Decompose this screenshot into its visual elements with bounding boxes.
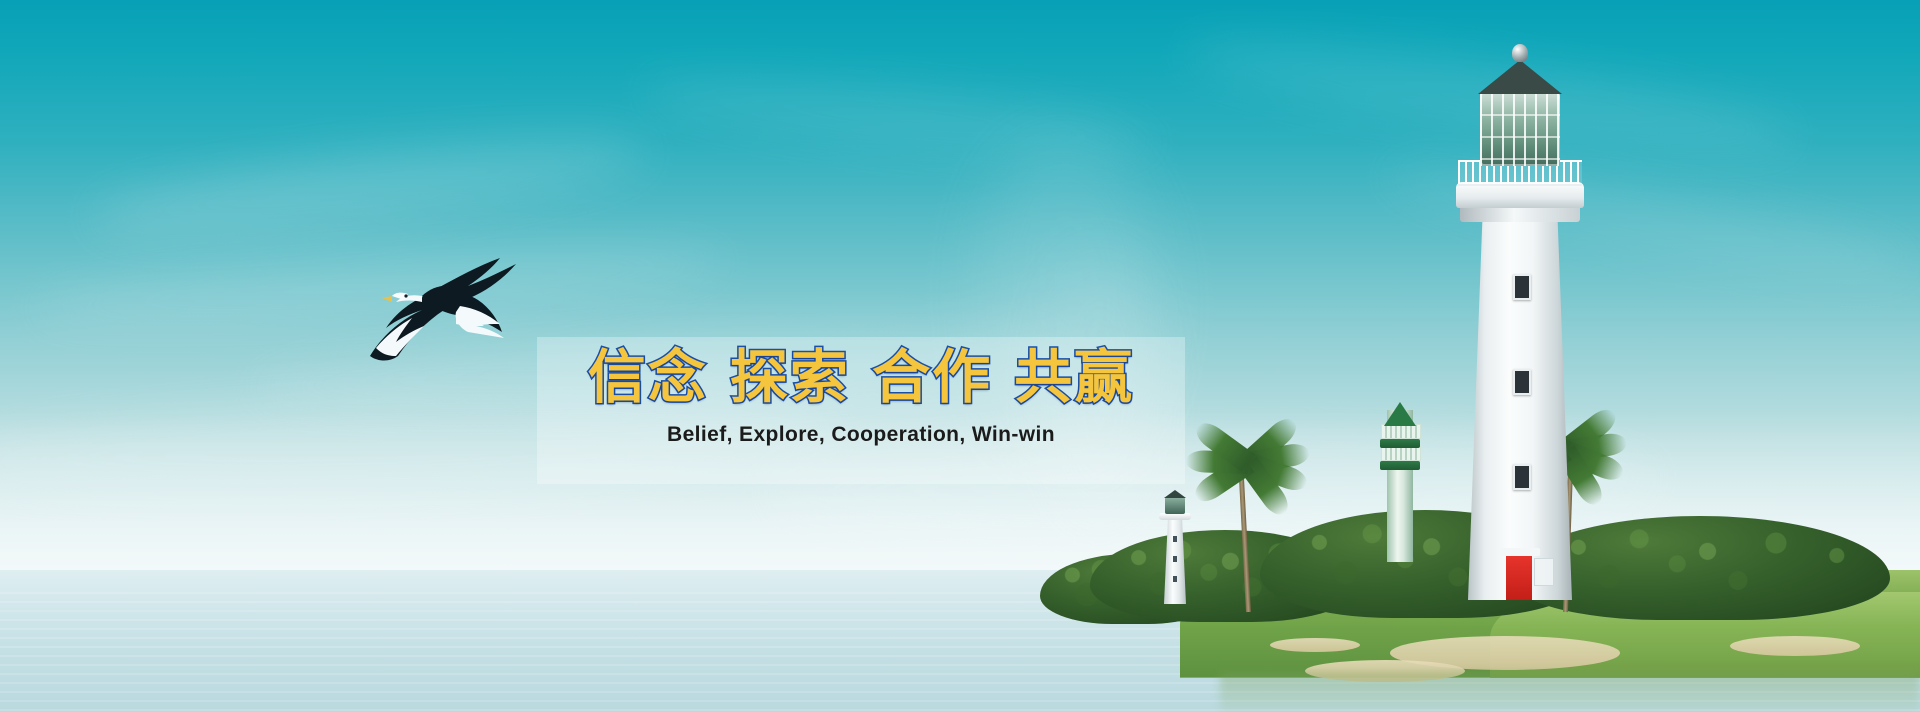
tower-band bbox=[1380, 439, 1420, 448]
tower-gallery bbox=[1381, 424, 1421, 439]
lighthouse-window bbox=[1513, 464, 1531, 490]
lighthouse-roof-cap bbox=[1478, 60, 1562, 94]
small-lighthouse-window bbox=[1173, 536, 1177, 542]
small-lighthouse-balcony bbox=[1159, 513, 1191, 520]
small-lighthouse bbox=[1152, 494, 1198, 604]
main-lighthouse bbox=[1440, 100, 1600, 600]
eagle-icon bbox=[352, 244, 524, 372]
lighthouse-finial bbox=[1512, 44, 1528, 62]
banner-hero: 信念 探索 合作 共赢 Belief, Explore, Cooperation… bbox=[0, 0, 1920, 712]
slogan-chinese: 信念 探索 合作 共赢 bbox=[588, 345, 1135, 410]
lighthouse-shaft bbox=[1468, 215, 1572, 600]
grass-reflection bbox=[1220, 672, 1920, 712]
lighthouse-window bbox=[1513, 274, 1531, 300]
tower-gallery bbox=[1381, 446, 1421, 461]
lighthouse-plaque bbox=[1534, 558, 1554, 586]
lighthouse-door bbox=[1506, 554, 1532, 600]
lighthouse-window bbox=[1513, 369, 1531, 395]
slogan-panel: 信念 探索 合作 共赢 Belief, Explore, Cooperation… bbox=[537, 337, 1185, 484]
tower-band bbox=[1380, 461, 1420, 470]
lighthouse-door-lintel bbox=[1500, 548, 1540, 556]
tower-roof bbox=[1384, 402, 1416, 426]
small-lighthouse-cap bbox=[1164, 490, 1186, 498]
small-lighthouse-window bbox=[1173, 556, 1177, 562]
small-lighthouse-lantern bbox=[1165, 497, 1185, 514]
sand-bunker bbox=[1270, 638, 1360, 652]
small-lighthouse-window bbox=[1173, 576, 1177, 582]
slogan-english: Belief, Explore, Cooperation, Win-win bbox=[667, 423, 1055, 447]
lighthouse-lantern-room bbox=[1480, 92, 1560, 166]
green-tower bbox=[1370, 410, 1430, 562]
sand-bunker bbox=[1730, 636, 1860, 656]
palm-tree bbox=[1196, 452, 1300, 612]
